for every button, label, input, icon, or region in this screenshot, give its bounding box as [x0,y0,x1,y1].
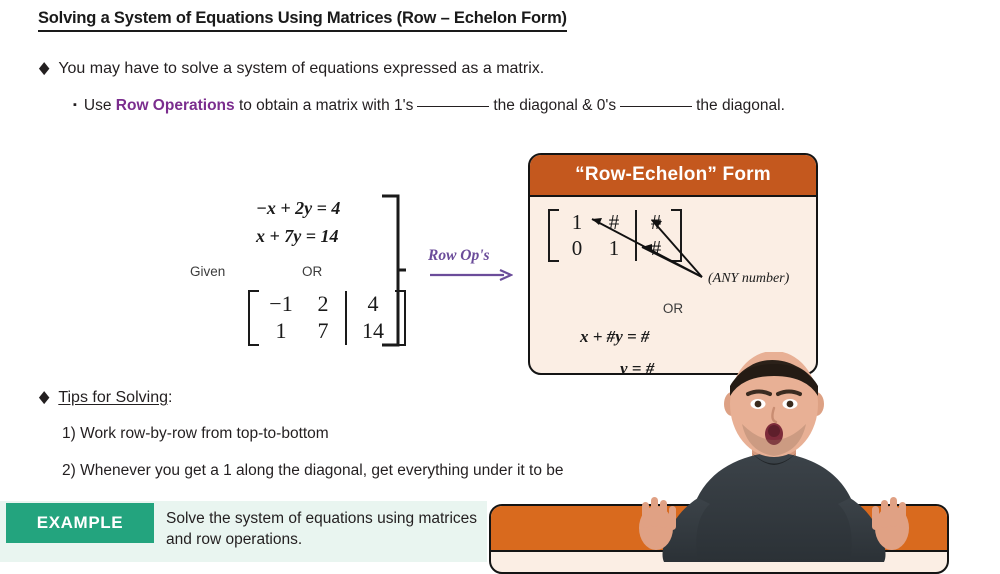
bullet-sub-pre: Use [84,97,116,114]
matrix-columns: −1 1 2 7 4 14 [259,290,395,346]
given-label: Given [190,264,225,279]
tips-item-2-tail: et the next 1 [734,462,819,479]
matrix-left-bracket [248,290,259,346]
matrix-cell: 7 [318,318,329,345]
bullet-sub: ▪Use Row Operations to obtain a matrix w… [73,94,785,115]
example-badge: EXAMPLE [6,503,154,543]
bullet-main-label: You may have to solve a system of equati… [58,60,544,77]
diamond-bullet-icon: ◆ [39,387,49,408]
matrix-card: Matr [489,504,949,574]
echelon-eq1-part-a: x + # [580,327,615,346]
echelon-equation-2: y = # [620,359,654,375]
row-operations-highlight: Row Operations [116,97,235,114]
bullet-sub-mid: to obtain a matrix with 1's [235,97,414,114]
row-echelon-card-body: 1 0 # 1 # # [530,197,816,375]
echelon-eq1-part-b: y = # [615,327,649,346]
diamond-bullet-icon: ◆ [39,58,49,79]
tips-item-2: 2) Whenever you get a 1 along the diagon… [62,462,819,480]
right-arrow-icon [428,268,513,282]
tips-item-2-head: 2) Whenever you get a 1 along the diagon… [62,462,564,479]
grouping-brace-icon [378,193,406,348]
given-equation-1: −x + 2y = 4 [256,198,340,219]
matrix-cell: 4 [368,291,379,318]
given-or-label: OR [302,264,322,279]
bullet-sub-mid2: the diagonal & 0's [493,97,616,114]
echelon-equation-1: x + #y = # [580,327,649,347]
matrix-card-header: Matr [491,506,947,552]
matrix-col-2: 2 7 [303,290,343,346]
bullet-main: ◆You may have to solve a system of equat… [38,58,544,78]
augment-divider [345,291,347,345]
any-number-annotation: (ANY number) [708,271,789,287]
page-title: Solving a System of Equations Using Matr… [38,9,567,32]
blank-line-1 [417,94,489,107]
tips-heading-colon: : [168,389,172,406]
example-text: Solve the system of equations using matr… [166,508,486,551]
slide-canvas: Solving a System of Equations Using Matr… [0,0,1000,562]
bullet-sub-end: the diagonal. [696,97,785,114]
matrix-cell: 2 [318,291,329,318]
row-ops-label: Row Op's [428,247,490,265]
blank-line-2 [620,94,692,107]
given-equation-2: x + 7y = 14 [256,226,339,247]
tips-heading-label: Tips for Solving [58,389,168,406]
square-bullet-icon: ▪ [73,99,77,111]
tips-heading: ◆Tips for Solving: [38,387,172,407]
matrix-col-1: −1 1 [259,290,303,346]
matrix-cell: 1 [276,318,287,345]
tips-item-1: 1) Work row-by-row from top-to-bottom [62,425,329,443]
row-echelon-card: “Row-Echelon” Form 1 0 # 1 # # [528,153,818,375]
echelon-or-label: OR [530,301,816,316]
row-echelon-card-header: “Row-Echelon” Form [530,155,816,197]
matrix-cell: −1 [269,291,292,318]
